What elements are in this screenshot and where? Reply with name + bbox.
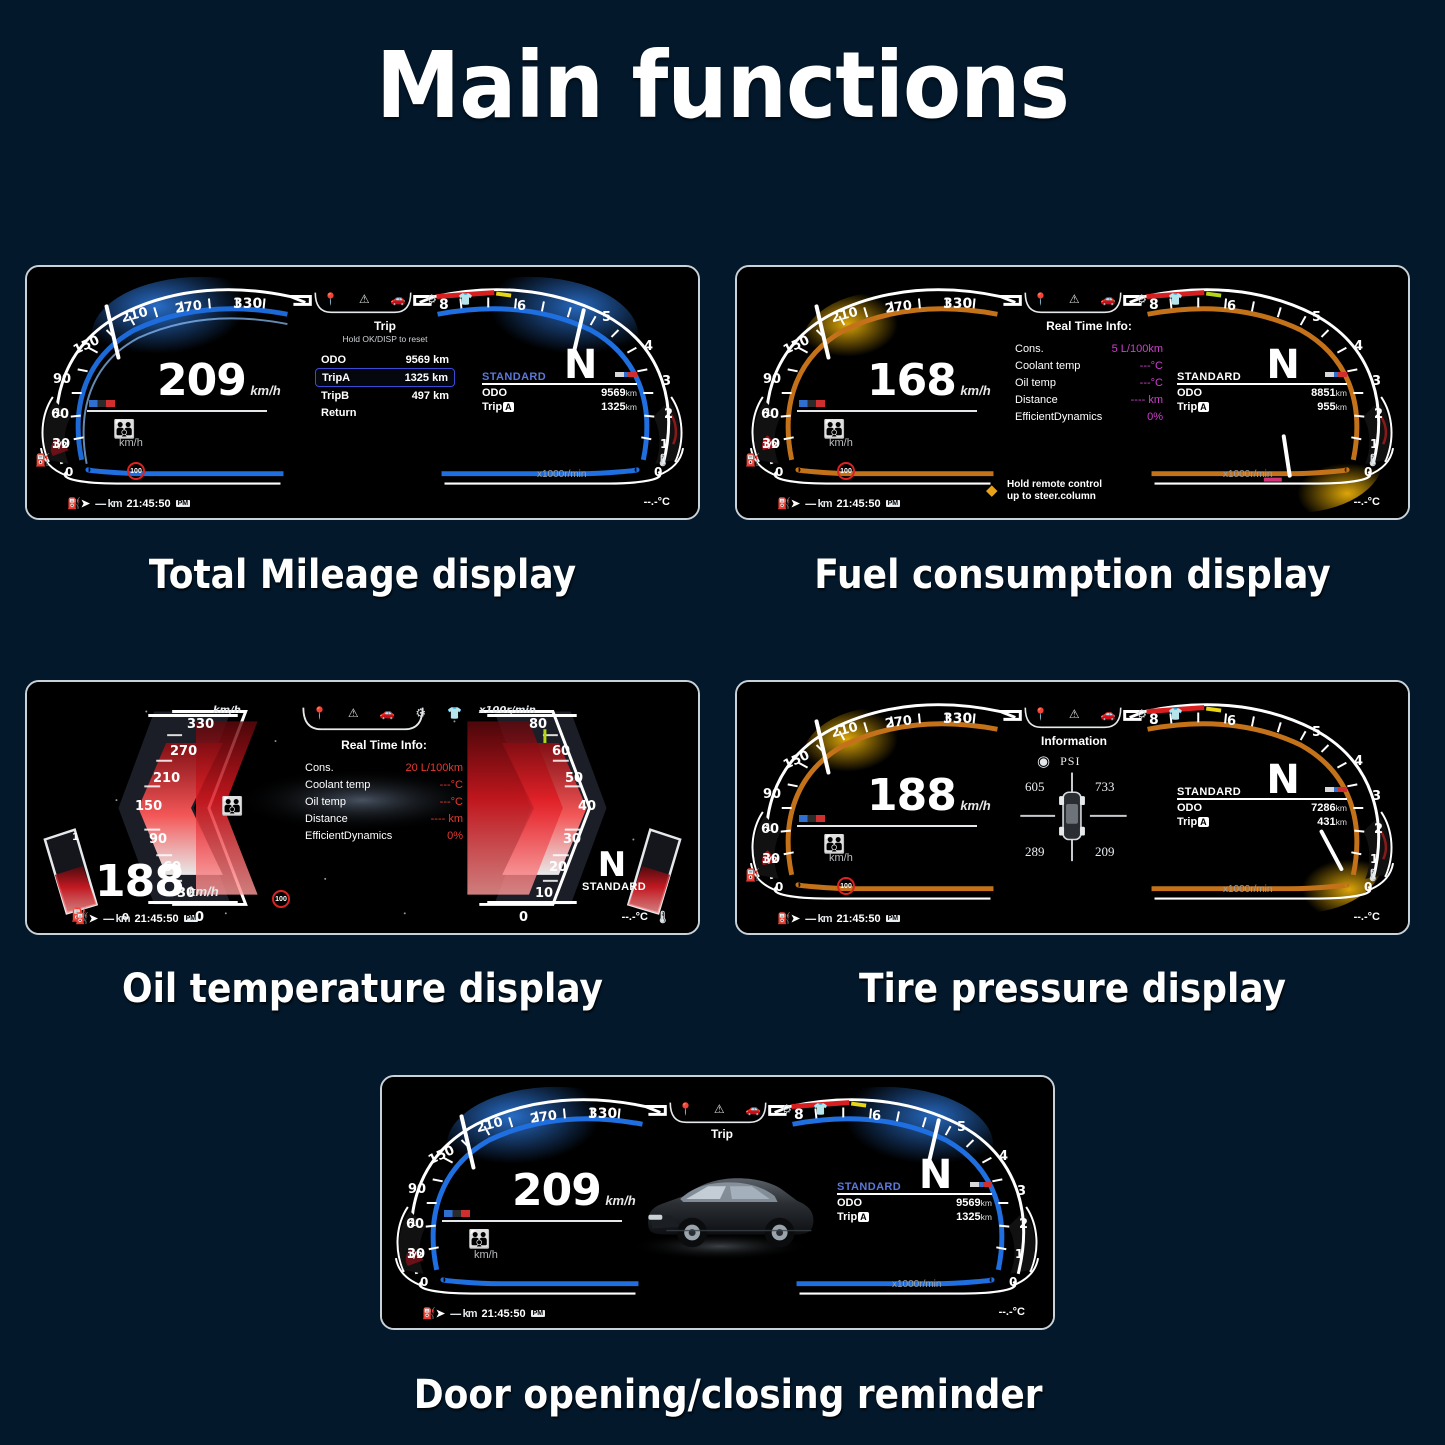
odo-unit: km (981, 1198, 992, 1208)
sport-speed-tick-270: 270 (170, 744, 197, 759)
odo-label: ODO (837, 1197, 862, 1209)
sport-tach-unit: x100r/min (479, 705, 536, 716)
clock-value: 21:45:50 (127, 498, 171, 510)
tire-pressure-rear-left: 289 (1025, 844, 1045, 860)
fuel-tick-1: 1 (765, 409, 771, 419)
info-row-cons-value: 5 L/100km (1112, 343, 1163, 355)
tach-tick-5: 5 (1312, 725, 1321, 740)
info-title: Real Time Info: (299, 738, 469, 752)
speed-tick-330: 330 (943, 711, 972, 727)
tach-tick-5: 5 (957, 1120, 966, 1135)
trip-menu-subtitle: Hold OK/DISP to reset (315, 334, 455, 344)
tach-unit: x1000r/min (1223, 469, 1272, 480)
m-logo (799, 815, 825, 822)
clock-value: 21:45:50 (837, 913, 881, 925)
trip-badge: A (503, 402, 514, 412)
status-icon-row: 📍 ⚠ 🚗 ⚙ 👕 (323, 292, 473, 306)
m-logo (89, 400, 115, 407)
tach-tick-6: 6 (872, 1109, 881, 1124)
gear-block: STANDARD N ODO 7286km TripA 431km (1177, 762, 1347, 828)
tire-unit: PSI (1060, 754, 1080, 769)
tach-tick-4: 4 (1354, 754, 1363, 769)
status-icon-row: 📍 ⚠ 🚗 ⚙ 👕 (312, 706, 462, 720)
gear-divider (837, 1193, 992, 1195)
speed-readout: 188 km/h (95, 860, 219, 904)
information-label: Information (1014, 734, 1134, 748)
m-stripe-icon (1325, 372, 1347, 377)
gear-indicator: N (564, 347, 597, 383)
fuel-tick-half: 1/2 (762, 856, 778, 866)
speed-divider (442, 1220, 622, 1222)
clock-value: 21:45:50 (837, 498, 881, 510)
caption-oil-temperature: Oil temperature display (59, 966, 667, 1012)
remote-control-message: Hold remote control up to steer.column (1007, 479, 1102, 503)
cluster-panel-tire-pressure[interactable]: 📍 ⚠ 🚗 ⚙ 👕 0 30 60 90 150 210 270 330 0 1… (735, 680, 1410, 935)
seatbelt-warning-icon: 👪 (221, 796, 243, 817)
speed-tick-90: 90 (763, 372, 781, 387)
seatbelt-warning-icon: 👪 (468, 1229, 490, 1250)
bottom-left-status: ⛽➤ ---- km 21:45:50 PM (67, 497, 190, 510)
m-stripe-icon (1325, 787, 1347, 792)
tach-tick-4: 4 (999, 1149, 1008, 1164)
shirt-icon: 👕 (458, 292, 473, 306)
speed-limit-sign: 100 (272, 890, 290, 908)
info-row-cons: Cons. 5 L/100km (1009, 340, 1169, 357)
fuel-pump-icon: ⛽ (35, 453, 50, 467)
info-row-efficient-label: EfficientDynamics (1015, 411, 1102, 423)
sport-tach-tick-10: 10 (535, 886, 553, 901)
clock-suffix: PM (531, 1310, 546, 1317)
trip-row-odo-label: ODO (321, 354, 346, 366)
fuel-tick-half: 1/2 (762, 441, 778, 451)
odo-row: ODO 9569km (837, 1197, 992, 1209)
fuel-tick-half: 1/2 (52, 441, 68, 451)
tach-tick-8: 8 (1149, 712, 1159, 728)
info-row-distance: Distance ---- km (299, 810, 469, 827)
tach-tick-2: 2 (664, 407, 673, 422)
tach-tick-6: 6 (517, 299, 526, 314)
sport-tach-tick-20: 20 (549, 860, 567, 875)
tach-tick-5: 5 (602, 310, 611, 325)
car-icon: 🚗 (391, 292, 406, 306)
gear-icon: ⚙ (415, 706, 426, 720)
trip-label: Trip (482, 401, 502, 413)
odo-value: 7286 (1311, 802, 1335, 814)
clock-value: 21:45:50 (135, 913, 179, 925)
trip-value: 431 (1317, 816, 1335, 828)
tire-unit-row: ◉ PSI (1037, 752, 1080, 770)
trip-row: TripA 1325km (482, 401, 637, 413)
range-icon: ⛽➤ (67, 497, 90, 510)
speed-tick-0: 0 (65, 465, 73, 479)
speed-divider (87, 410, 267, 412)
outside-temp: --.-°C (1354, 496, 1380, 508)
speed-tick-90: 90 (763, 787, 781, 802)
tach-tick-8: 8 (439, 297, 449, 313)
gear-icon: ⚙ (426, 292, 437, 306)
info-row-cons-label: Cons. (305, 762, 334, 774)
trip-row-tripb[interactable]: TripB 497 km (315, 387, 455, 404)
tire-pressure-front-left: 605 (1025, 779, 1045, 795)
range-value: ---- km (95, 498, 122, 510)
tach-unit: x1000r/min (892, 1279, 941, 1290)
info-row-oil: Oil temp ---°C (299, 793, 469, 810)
speed-unit-label: km/h (213, 705, 241, 716)
coolant-icon: 🌡 (655, 453, 670, 467)
info-row-cons-value: 20 L/100km (406, 762, 463, 774)
speed-unit: km/h (960, 383, 990, 398)
gear-divider (1177, 798, 1347, 800)
instrument-cluster: 📍 ⚠ 🚗 ⚙ 👕 km/h 330 270 210 150 90 60 30 … (27, 682, 698, 933)
trip-row: TripA 1325km (837, 1211, 992, 1223)
sport-speed-tick-150: 150 (135, 799, 162, 814)
info-row-efficient-value: 0% (1147, 411, 1163, 423)
speed-tick-90: 90 (53, 372, 71, 387)
range-icon: ⛽➤ (777, 497, 800, 510)
tach-tick-2: 2 (1374, 822, 1383, 837)
info-title: Real Time Info: (1009, 319, 1169, 333)
speed-tick-0: 0 (420, 1275, 428, 1289)
instrument-cluster: 📍 ⚠ 🚗 ⚙ 👕 Trip 0 30 60 90 150 210 270 33… (382, 1077, 1053, 1328)
info-row-efficient: EfficientDynamics 0% (299, 827, 469, 844)
speed-value: 188 (95, 856, 184, 907)
info-row-efficient: EfficientDynamics 0% (1009, 408, 1169, 425)
bottom-left-status: ⛽➤ ---- km 21:45:50 PM (75, 912, 198, 925)
range-value: ---- km (805, 913, 832, 925)
odo-value: 8851 (1311, 387, 1335, 399)
trip-value: 955 (1317, 401, 1335, 413)
range-value: ---- km (103, 913, 130, 925)
caption-door-reminder: Door opening/closing reminder (414, 1372, 1022, 1418)
range-value: ---- km (450, 1308, 477, 1320)
fuel-pump-icon: ⛽ (745, 868, 760, 882)
outside-temp: --.-°C (622, 911, 648, 923)
trip-row-return[interactable]: Return (315, 404, 455, 421)
shirt-icon: 👕 (1168, 707, 1183, 721)
clock-suffix: PM (176, 500, 191, 507)
sport-speed-tick-210: 210 (153, 771, 180, 786)
cluster-panel-door-reminder[interactable]: 📍 ⚠ 🚗 ⚙ 👕 Trip 0 30 60 90 150 210 270 33… (380, 1075, 1055, 1330)
info-row-oil: Oil temp ---°C (1009, 374, 1169, 391)
real-time-info: Real Time Info: Cons. 20 L/100km Coolant… (299, 738, 469, 844)
outside-temp: --.-°C (644, 496, 670, 508)
tach-tick-8: 8 (794, 1107, 804, 1123)
car-icon: 🚗 (1101, 707, 1116, 721)
trip-badge: A (1198, 817, 1209, 827)
speed-unit-small: km/h (119, 437, 143, 449)
speed-unit-small: km/h (829, 852, 853, 864)
speed-tick-330: 330 (943, 296, 972, 312)
tach-tick-2: 2 (1019, 1217, 1028, 1232)
gear-block: STANDARD N ODO 9569km TripA 1325km (837, 1157, 992, 1223)
tach-tick-0: 0 (1364, 880, 1372, 894)
caption-total-mileage: Total Mileage display (59, 552, 667, 598)
real-time-info: Real Time Info: Cons. 5 L/100km Coolant … (1009, 319, 1169, 425)
info-row-coolant: Coolant temp ---°C (1009, 357, 1169, 374)
sport-tach-tick-0: 0 (519, 910, 528, 925)
speed-divider (797, 825, 977, 827)
location-pin-icon: 📍 (312, 706, 327, 720)
odo-unit: km (626, 388, 637, 398)
trip-unit: km (626, 402, 637, 412)
drive-mode: STANDARD (837, 1181, 901, 1193)
tire-wheel-icon: ◉ (1037, 752, 1050, 770)
info-row-coolant-label: Coolant temp (305, 779, 370, 791)
speed-tick-90: 90 (408, 1182, 426, 1197)
trip-label: Trip (1177, 401, 1197, 413)
trip-menu[interactable]: Trip Hold OK/DISP to reset ODO 9569 km T… (315, 319, 455, 421)
shirt-icon: 👕 (1168, 292, 1183, 306)
drive-mode: STANDARD (1177, 786, 1241, 798)
trip-row-odo-value: 9569 km (406, 354, 449, 366)
gear-block: N STANDARD (582, 850, 642, 893)
tach-tick-1: 1 (1015, 1247, 1023, 1261)
coolant-icon: 🌡 (655, 910, 670, 924)
m-stripe-icon (615, 372, 637, 377)
odo-row: ODO 9569km (482, 387, 637, 399)
speed-limit-sign: 100 (837, 462, 855, 480)
speed-value: 209 (512, 1165, 601, 1216)
gear-block: STANDARD N ODO 8851km TripA 955km (1177, 347, 1347, 413)
speed-readout: 188 km/h (867, 774, 991, 818)
trip-label: Trip (837, 1211, 857, 1223)
trip-badge: A (1198, 402, 1209, 412)
tach-tick-0: 0 (654, 465, 662, 479)
speed-limit-sign: 100 (127, 462, 145, 480)
speed-unit-small: km/h (474, 1249, 498, 1261)
speed-readout: 209 km/h (512, 1169, 636, 1213)
m-logo (444, 1210, 470, 1217)
tach-tick-8: 8 (1149, 297, 1159, 313)
info-row-oil-label: Oil temp (1015, 377, 1056, 389)
range-icon: ⛽➤ (75, 912, 98, 925)
trip-label-center: Trip (682, 1127, 762, 1141)
trip-badge: A (858, 1212, 869, 1222)
tach-tick-1: 1 (1370, 852, 1378, 866)
speed-limit-sign: 100 (837, 877, 855, 895)
caption-tire-pressure: Tire pressure display (769, 966, 1377, 1012)
odo-unit: km (1336, 388, 1347, 398)
cluster-panel-oil-temperature[interactable]: 📍 ⚠ 🚗 ⚙ 👕 km/h 330 270 210 150 90 60 30 … (25, 680, 700, 935)
shirt-icon: 👕 (813, 1102, 828, 1116)
bottom-left-status: ⛽➤ ---- km 21:45:50 PM (422, 1307, 545, 1320)
clock-suffix: PM (886, 500, 901, 507)
warning-triangle-icon: ⚠ (714, 1102, 725, 1116)
warning-triangle-icon: ⚠ (1069, 707, 1080, 721)
m-logo (799, 400, 825, 407)
tach-tick-0: 0 (1009, 1275, 1017, 1289)
trip-value: 1325 (601, 401, 625, 413)
speed-value: 188 (867, 770, 956, 821)
tire-pressure-front-right: 733 (1095, 779, 1115, 795)
trip-unit: km (981, 1212, 992, 1222)
speed-tick-0: 0 (775, 880, 783, 894)
range-value: ---- km (805, 498, 832, 510)
speed-tick-0: 0 (775, 465, 783, 479)
fuel-tick-1: 1 (55, 409, 61, 419)
info-row-cons: Cons. 20 L/100km (299, 759, 469, 776)
m-stripe-icon (970, 1182, 992, 1187)
info-row-distance-value: ---- km (1131, 394, 1163, 406)
tach-tick-4: 4 (644, 339, 653, 354)
speed-value: 209 (157, 355, 246, 406)
info-row-oil-label: Oil temp (305, 796, 346, 808)
gear-indicator: N (582, 850, 642, 881)
trip-row: TripA 431km (1177, 816, 1347, 828)
clock-suffix: PM (184, 915, 199, 922)
info-row-distance-value: ---- km (431, 813, 463, 825)
warning-triangle-icon: ⚠ (359, 292, 370, 306)
info-row-distance-label: Distance (1015, 394, 1058, 406)
tach-unit: x1000r/min (1223, 884, 1272, 895)
trip-row-tripa-label: TripA (322, 372, 350, 384)
speed-tick-330: 330 (588, 1106, 617, 1122)
info-row-oil-value: ---°C (440, 796, 463, 808)
tire-pressure-rear-right: 209 (1095, 844, 1115, 860)
gear-indicator: N (919, 1157, 952, 1193)
cluster-panel-fuel-consumption[interactable]: 📍 ⚠ 🚗 ⚙ 👕 0 30 60 90 150 210 270 330 0 1… (735, 265, 1410, 520)
outside-temp: --.-°C (999, 1306, 1025, 1318)
info-row-cons-label: Cons. (1015, 343, 1044, 355)
coolant-icon: 🌡 (1365, 868, 1380, 882)
info-row-coolant-value: ---°C (440, 779, 463, 791)
odo-label: ODO (1177, 802, 1202, 814)
location-pin-icon: 📍 (1033, 707, 1048, 721)
gear-divider (482, 383, 637, 385)
trip-label: Trip (1177, 816, 1197, 828)
status-icon-row: 📍 ⚠ 🚗 ⚙ 👕 (1033, 707, 1183, 721)
location-pin-icon: 📍 (323, 292, 338, 306)
tach-tick-3: 3 (1372, 789, 1381, 804)
info-row-coolant-value: ---°C (1140, 360, 1163, 372)
tach-tick-1: 1 (1370, 437, 1378, 451)
drive-mode: STANDARD (1177, 371, 1241, 383)
speed-unit-small: km/h (829, 437, 853, 449)
page-title: Main functions (58, 32, 1387, 139)
status-icon-row: 📍 ⚠ 🚗 ⚙ 👕 (678, 1102, 828, 1116)
sport-tach-tick-50: 50 (565, 771, 583, 786)
speed-divider (797, 410, 977, 412)
tire-info-title: Information (1014, 734, 1134, 748)
tach-tick-6: 6 (1227, 299, 1236, 314)
warning-triangle-icon: ⚠ (348, 706, 359, 720)
gear-indicator: N (1266, 347, 1299, 383)
info-row-efficient-value: 0% (447, 830, 463, 842)
info-row-coolant: Coolant temp ---°C (299, 776, 469, 793)
clock-value: 21:45:50 (482, 1308, 526, 1320)
coolant-icon: 🌡 (1365, 453, 1380, 467)
cluster-panel-total-mileage[interactable]: 📍 ⚠ 🚗 ⚙ 👕 0 30 60 90 150 210 270 330 0 1… (25, 265, 700, 520)
clock-suffix: PM (886, 915, 901, 922)
trip-unit: km (1336, 817, 1347, 827)
speed-unit: km/h (188, 884, 218, 899)
trip-unit: km (1336, 402, 1347, 412)
trip-row-tripb-value: 497 km (412, 390, 449, 402)
tach-tick-2: 2 (1374, 407, 1383, 422)
fuel-pump-icon: ⛽ (745, 453, 760, 467)
odo-row: ODO 8851km (1177, 387, 1347, 399)
drive-mode: STANDARD (582, 881, 642, 893)
info-row-coolant-label: Coolant temp (1015, 360, 1080, 372)
sport-tach-tick-60: 60 (552, 744, 570, 759)
tach-tick-3: 3 (662, 374, 671, 389)
gear-indicator: N (1266, 762, 1299, 798)
trip-row-tripa-value: 1325 km (405, 372, 448, 384)
drive-mode: STANDARD (482, 371, 546, 383)
caption-fuel-consumption: Fuel consumption display (769, 552, 1377, 598)
gear-icon: ⚙ (1136, 707, 1147, 721)
warning-triangle-icon: ⚠ (1069, 292, 1080, 306)
tach-tick-3: 3 (1017, 1184, 1026, 1199)
speed-unit: km/h (605, 1193, 635, 1208)
odo-label: ODO (1177, 387, 1202, 399)
gear-block: STANDARD N ODO 9569km TripA 1325km (482, 347, 637, 413)
odo-value: 9569 (601, 387, 625, 399)
trip-row-odo[interactable]: ODO 9569 km (315, 351, 455, 368)
instrument-cluster: 📍 ⚠ 🚗 ⚙ 👕 0 30 60 90 150 210 270 330 0 1… (737, 682, 1408, 933)
location-pin-icon: 📍 (678, 1102, 693, 1116)
fuel-tick-1: 1 (410, 1219, 416, 1229)
car-icon: 🚗 (380, 706, 395, 720)
instrument-cluster: 📍 ⚠ 🚗 ⚙ 👕 0 30 60 90 150 210 270 330 0 1… (27, 267, 698, 518)
trip-row: TripA 955km (1177, 401, 1347, 413)
status-icon-row: 📍 ⚠ 🚗 ⚙ 👕 (1033, 292, 1183, 306)
outside-temp: --.-°C (1354, 911, 1380, 923)
trip-row-return-label: Return (321, 407, 356, 419)
speed-tick-330: 330 (233, 296, 262, 312)
car-icon: 🚗 (1101, 292, 1116, 306)
tach-tick-4: 4 (1354, 339, 1363, 354)
gear-icon: ⚙ (1136, 292, 1147, 306)
info-row-distance-label: Distance (305, 813, 348, 825)
tach-unit: x1000r/min (537, 469, 586, 480)
trip-row-tripa[interactable]: TripA 1325 km (315, 368, 455, 387)
gear-icon: ⚙ (781, 1102, 792, 1116)
odo-label: ODO (482, 387, 507, 399)
sport-speed-tick-90: 90 (149, 832, 167, 847)
bottom-left-status: ⛽➤ ---- km 21:45:50 PM (777, 497, 900, 510)
speed-readout: 209 km/h (157, 359, 281, 403)
speed-unit: km/h (960, 798, 990, 813)
speed-unit: km/h (250, 383, 280, 398)
instrument-cluster: 📍 ⚠ 🚗 ⚙ 👕 0 30 60 90 150 210 270 330 0 1… (737, 267, 1408, 518)
tach-tick-5: 5 (1312, 310, 1321, 325)
fuel-tick-half: 1/2 (407, 1251, 423, 1261)
trip-row-tripb-label: TripB (321, 390, 349, 402)
sport-tach-tick-80: 80 (529, 717, 547, 732)
info-row-efficient-label: EfficientDynamics (305, 830, 392, 842)
speed-value: 168 (867, 355, 956, 406)
shirt-icon: 👕 (447, 706, 462, 720)
fuel-tick-1: 1 (72, 832, 79, 843)
tach-tick-0: 0 (1364, 465, 1372, 479)
trip-menu-title: Trip (315, 319, 455, 333)
gear-divider (1177, 383, 1347, 385)
speed-readout: 168 km/h (867, 359, 991, 403)
info-row-oil-value: ---°C (1140, 377, 1163, 389)
info-row-distance: Distance ---- km (1009, 391, 1169, 408)
location-pin-icon: 📍 (1033, 292, 1048, 306)
odo-unit: km (1336, 803, 1347, 813)
odo-row: ODO 7286km (1177, 802, 1347, 814)
fuel-tick-1: 1 (765, 824, 771, 834)
sport-tach-tick-30: 30 (563, 832, 581, 847)
odo-value: 9569 (956, 1197, 980, 1209)
sport-tach-tick-40: 40 (578, 799, 596, 814)
tach-tick-1: 1 (660, 437, 668, 451)
sport-speed-tick-330: 330 (187, 717, 214, 732)
car-icon: 🚗 (746, 1102, 761, 1116)
